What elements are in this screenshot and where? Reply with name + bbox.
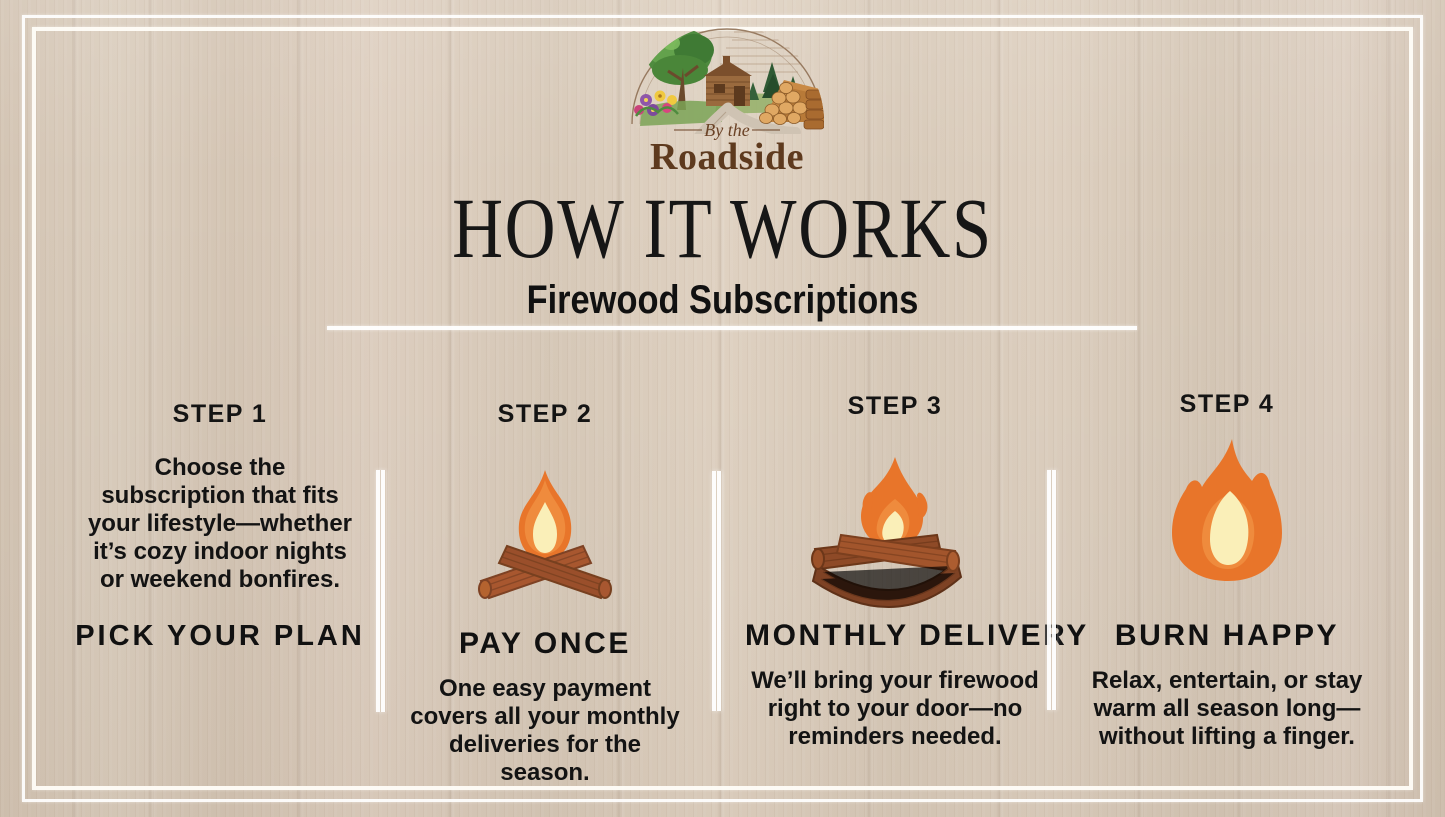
divider-1 — [376, 470, 386, 712]
divider-2 — [712, 471, 722, 711]
step-3-label: STEP 3 — [745, 392, 1045, 421]
step-3-heading: MONTHLY DELIVERY — [745, 619, 1045, 653]
step-2-description: One easy payment covers all your monthly… — [405, 675, 685, 787]
poster-canvas: By the Roadside HOW IT WORKS Firewood Su… — [0, 0, 1445, 817]
step-4-label: STEP 4 — [1082, 390, 1372, 419]
title-underline-rule — [327, 326, 1137, 330]
step-1-heading: PICK YOUR PLAN — [75, 620, 365, 653]
campfire-crossed-logs-icon — [455, 450, 635, 625]
step-3-description: We’ll bring your firewood right to your … — [751, 667, 1039, 751]
step-column-3: STEP 3 — [745, 372, 1045, 751]
step-1-label: STEP 1 — [75, 400, 365, 429]
step-1-description: Choose the subscription that fits your l… — [75, 454, 365, 594]
step-3-icon — [745, 433, 1045, 619]
step-2-label: STEP 2 — [400, 400, 690, 429]
step-column-1: STEP 1 Choose the subscription that fits… — [75, 380, 365, 653]
step-4-heading: BURN HAPPY — [1082, 619, 1372, 653]
campfire-stacked-logs-icon — [795, 439, 995, 619]
flame-icon — [1140, 429, 1315, 619]
step-column-4: STEP 4 BURN HAPPY Relax, entertain, or s… — [1082, 372, 1372, 751]
brand-logo: By the Roadside — [622, 4, 832, 176]
step-4-description: Relax, entertain, or stay warm all seaso… — [1086, 667, 1368, 751]
step-4-icon — [1082, 429, 1372, 619]
brand-main-text: Roadside — [650, 136, 804, 176]
page-title: HOW IT WORKS — [130, 182, 1315, 274]
step-2-heading: PAY ONCE — [400, 627, 690, 661]
step-2-icon — [400, 445, 690, 625]
step-column-2: STEP 2 — [400, 380, 690, 787]
divider-3 — [1047, 470, 1057, 710]
page-subtitle: Firewood Subscriptions — [101, 276, 1344, 324]
